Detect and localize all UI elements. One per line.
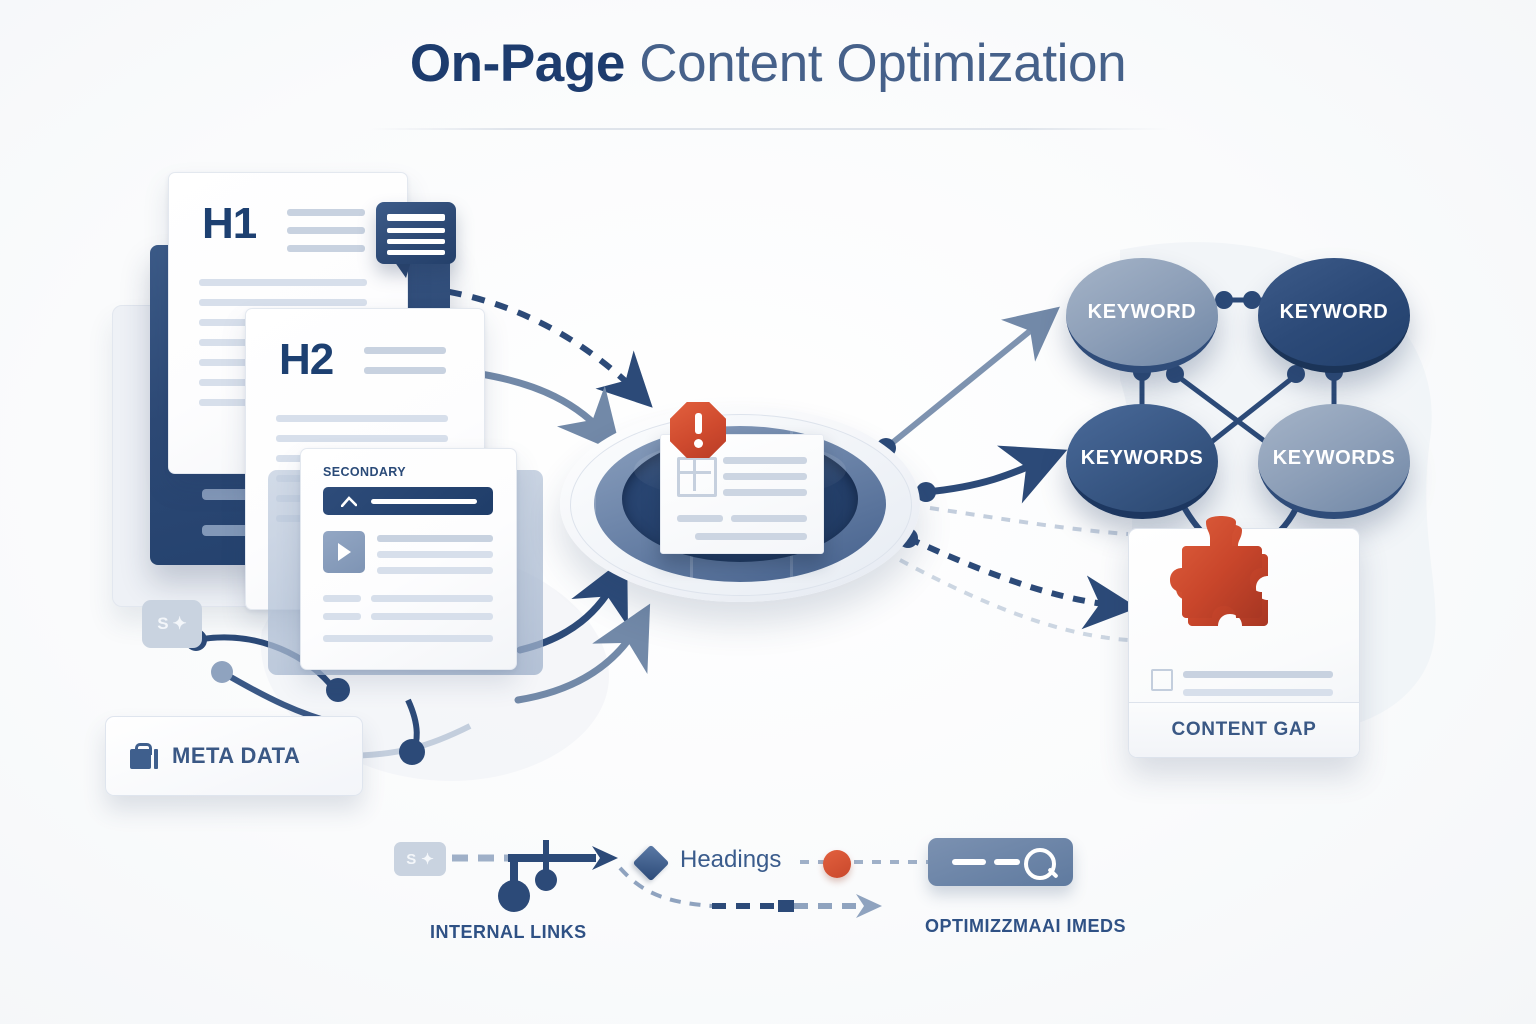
page-title-rest: Content Optimization <box>625 34 1126 93</box>
legend-optimization-label: OPTIMIZZMAAI IMEDS <box>925 916 1126 937</box>
sparkle-glyph: ✦ <box>173 614 187 634</box>
h1-title-line <box>287 245 365 252</box>
comment-lines-icon[interactable] <box>376 202 456 264</box>
h2-heading-label: H2 <box>279 335 333 385</box>
chevron-icon <box>341 496 357 507</box>
red-dot-icon <box>823 850 851 878</box>
keyword-bubble-bottom-left[interactable]: KEYWORDS <box>1066 404 1218 519</box>
meta-data-label: META DATA <box>172 743 300 769</box>
h1-title-line <box>287 227 365 234</box>
connector-node <box>211 661 233 683</box>
h1-body-line <box>199 279 367 286</box>
meta-link-4 <box>408 700 417 756</box>
gap-line <box>1183 689 1333 696</box>
secondary-line <box>371 613 493 620</box>
connector-node <box>326 678 350 702</box>
mini-chip-text: S <box>157 614 168 634</box>
h2-title-line <box>364 367 446 374</box>
gap-line <box>1183 671 1333 678</box>
keyword-label: KEYWORDS <box>1273 447 1396 470</box>
arrow-hub-to-keyword-mid <box>926 458 1048 492</box>
content-gap-footer: CONTENT GAP <box>1129 702 1359 757</box>
meta-data-card[interactable]: META DATA <box>105 716 363 796</box>
keyword-label: KEYWORD <box>1088 301 1197 324</box>
legend-sparkle-badge: S ✦ <box>394 842 446 876</box>
legend-headings-label: Headings <box>680 846 781 874</box>
diamond-icon <box>633 845 670 882</box>
h1-title-line <box>287 209 365 216</box>
search-bar-icon[interactable] <box>928 838 1073 886</box>
legend: S ✦ INTERNAL LINKS Headings OPTIMIZZMAAI… <box>380 826 1160 956</box>
h2-title-line <box>364 347 446 354</box>
h2-body-line <box>276 435 448 442</box>
arrow-hub-to-content-gap <box>908 538 1120 606</box>
content-gap-label: CONTENT GAP <box>1172 719 1317 741</box>
optimization-hub[interactable] <box>560 378 920 638</box>
sparkle-icon[interactable]: S ✦ <box>142 600 202 648</box>
checkbox-icon[interactable] <box>1151 669 1173 691</box>
media-thumbnail[interactable] <box>323 531 365 573</box>
legend-badge-text: S <box>406 851 416 868</box>
secondary-line <box>323 635 493 642</box>
page-title-strong: On-Page <box>410 34 625 93</box>
secondary-card-label: SECONDARY <box>323 465 406 479</box>
document-card-secondary[interactable]: SECONDARY <box>300 448 517 670</box>
guide-dashed-1 <box>930 508 1128 534</box>
title-block: On-Page Content Optimization <box>0 36 1536 92</box>
keyword-bubble-bottom-right[interactable]: KEYWORDS <box>1258 404 1410 519</box>
diagram-canvas: On-Page Content Optimization <box>0 0 1536 1024</box>
h1-body-line <box>199 299 367 306</box>
title-divider <box>368 128 1168 130</box>
play-icon <box>338 543 351 561</box>
keyword-bubble-top-left[interactable]: KEYWORD <box>1066 258 1218 373</box>
magnifier-icon <box>1024 848 1056 880</box>
keyword-label: KEYWORDS <box>1081 447 1204 470</box>
connector-node <box>1215 291 1233 309</box>
secondary-line <box>371 595 493 602</box>
keyword-label: KEYWORD <box>1280 301 1389 324</box>
secondary-line <box>377 535 493 542</box>
secondary-line <box>377 551 493 558</box>
legend-badge-sparkle: ✦ <box>421 850 434 868</box>
secondary-line <box>323 613 361 620</box>
guide-dashed-2 <box>900 560 1128 640</box>
connector-node <box>399 739 425 765</box>
h1-heading-label: H1 <box>202 199 256 249</box>
secondary-line <box>377 567 493 574</box>
puzzle-piece-icon[interactable] <box>1162 516 1280 638</box>
secondary-line <box>323 595 361 602</box>
alert-octagon-icon[interactable] <box>670 402 726 458</box>
legend-internal-links-label: INTERNAL LINKS <box>430 922 587 943</box>
tag-bag-icon <box>130 743 158 769</box>
keyword-bubble-top-right[interactable]: KEYWORD <box>1258 258 1410 373</box>
page-title: On-Page Content Optimization <box>0 36 1536 92</box>
secondary-search-bar[interactable] <box>323 487 493 515</box>
h2-body-line <box>276 415 448 422</box>
layout-grid-icon <box>677 457 717 497</box>
